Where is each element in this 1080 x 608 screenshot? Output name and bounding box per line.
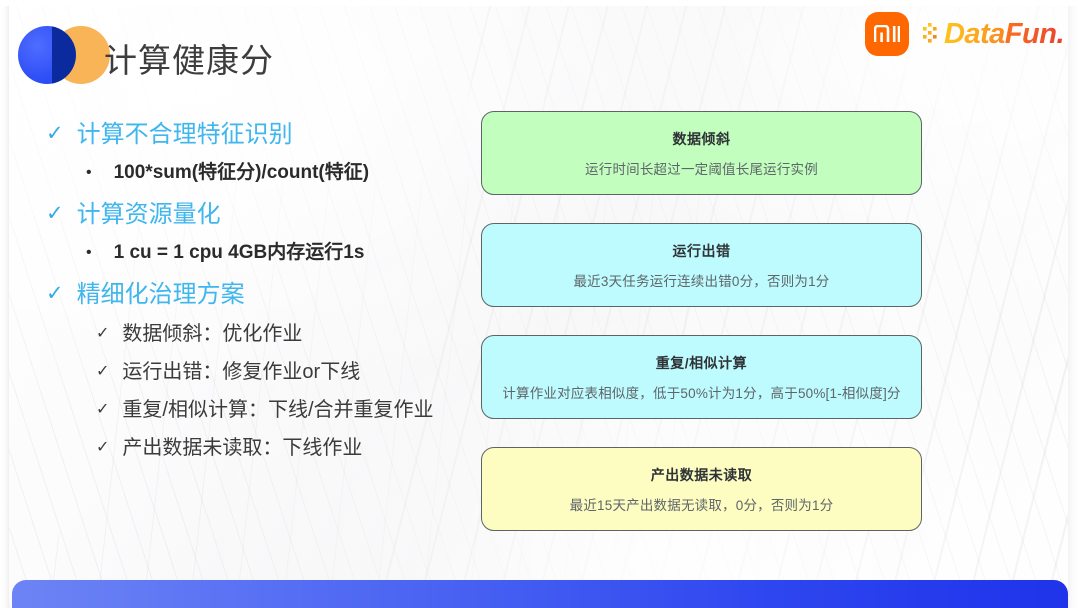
list-item-label: 100*sum(特征分)/count(特征): [114, 158, 369, 188]
list-item-level3: ✓ 数据倾斜：优化作业: [96, 318, 466, 350]
list-item-level2: • 1 cu = 1 cpu 4GB内存运行1s: [86, 238, 466, 268]
list-item-label: 数据倾斜：优化作业: [122, 318, 302, 350]
card-title: 重复/相似计算: [656, 353, 747, 373]
check-icon: ✓: [46, 198, 64, 230]
list-item-label: 重复/相似计算：下线/合并重复作业: [122, 394, 433, 426]
card-description: 计算作业对应表相似度，低于50%计为1分，高于50%[1-相似度]分: [502, 382, 900, 402]
list-item-level1: ✓ 精细化治理方案: [46, 278, 466, 312]
check-icon: ✓: [96, 318, 109, 350]
card-title: 产出数据未读取: [651, 465, 753, 485]
slide-edge-right: [1068, 0, 1080, 608]
list-item-label: 1 cu = 1 cpu 4GB内存运行1s: [114, 238, 365, 268]
brand-row: DataFun.: [865, 12, 1064, 56]
score-rule-card-list: 数据倾斜 运行时间长超过一定阈值长尾运行实例 运行出错 最近3天任务运行连续出错…: [481, 111, 922, 559]
card-title: 运行出错: [673, 241, 731, 261]
list-item-label: 计算不合理特征识别: [77, 118, 293, 152]
card-data-skew[interactable]: 数据倾斜 运行时间长超过一定阈值长尾运行实例: [481, 111, 922, 195]
list-item-level1: ✓ 计算不合理特征识别: [46, 118, 466, 152]
list-item-label: 计算资源量化: [77, 198, 221, 232]
bullet-dot-icon: •: [86, 238, 92, 268]
slide-edge-top: [0, 0, 1080, 6]
card-title: 数据倾斜: [673, 129, 731, 149]
datafun-dots-icon: [923, 23, 941, 45]
card-description: 最近3天任务运行连续出错0分，否则为1分: [573, 270, 829, 290]
datafun-wordmark-data: Data: [944, 18, 1005, 50]
check-icon: ✓: [96, 356, 109, 388]
card-duplicate-similar-compute[interactable]: 重复/相似计算 计算作业对应表相似度，低于50%计为1分，高于50%[1-相似度…: [481, 335, 922, 419]
datafun-logo: DataFun.: [923, 20, 1064, 49]
bullet-list: ✓ 计算不合理特征识别 • 100*sum(特征分)/count(特征) ✓ 计…: [46, 118, 466, 470]
check-icon: ✓: [46, 118, 64, 150]
check-icon: ✓: [46, 278, 64, 310]
list-item-label: 精细化治理方案: [77, 278, 245, 312]
slide-edge-left: [0, 0, 9, 608]
bullet-dot-icon: •: [86, 158, 92, 188]
check-icon: ✓: [96, 432, 109, 464]
datafun-wordmark-fun: Fun.: [1005, 18, 1064, 50]
xiaomi-mi-logo-icon: [865, 12, 909, 56]
list-item-level3: ✓ 产出数据未读取：下线作业: [96, 432, 466, 464]
card-description: 运行时间长超过一定阈值长尾运行实例: [585, 158, 818, 178]
list-item-label: 产出数据未读取：下线作业: [122, 432, 362, 464]
list-item-label: 运行出错：修复作业or下线: [122, 356, 360, 388]
overlapping-circles-logo-icon: [18, 26, 110, 84]
check-icon: ✓: [96, 394, 109, 426]
bottom-accent-bar: [12, 580, 1068, 608]
slide-canvas: 计算健康分 DataFun.: [0, 0, 1080, 608]
list-item-level3: ✓ 运行出错：修复作业or下线: [96, 356, 466, 388]
card-description: 最近15天产出数据无读取，0分，否则为1分: [570, 494, 834, 514]
card-run-error[interactable]: 运行出错 最近3天任务运行连续出错0分，否则为1分: [481, 223, 922, 307]
list-item-level2: • 100*sum(特征分)/count(特征): [86, 158, 466, 188]
list-item-level3: ✓ 重复/相似计算：下线/合并重复作业: [96, 394, 466, 426]
card-output-unread[interactable]: 产出数据未读取 最近15天产出数据无读取，0分，否则为1分: [481, 447, 922, 531]
page-title: 计算健康分: [104, 34, 274, 82]
list-item-level1: ✓ 计算资源量化: [46, 198, 466, 232]
logo-overlap-icon: [52, 26, 76, 84]
